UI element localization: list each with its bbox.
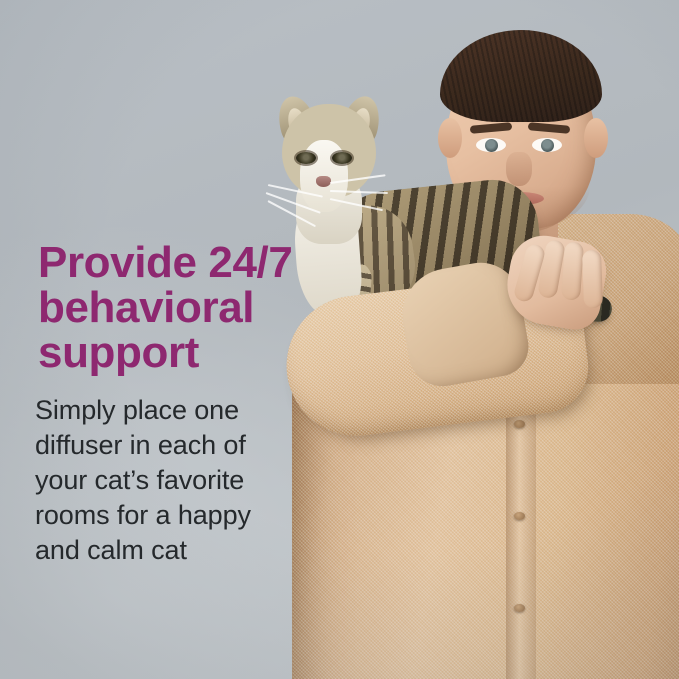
cat-nose — [316, 176, 331, 187]
cat-eye-left — [296, 152, 316, 164]
body-line-3: your cat’s favorite — [35, 463, 305, 498]
body-line-2: diffuser in each of — [35, 428, 305, 463]
headline-line-3: support — [38, 330, 338, 375]
headline: Provide 24/7 behavioral support — [38, 240, 338, 375]
body-copy: Simply place one diffuser in each of you… — [35, 393, 305, 568]
headline-line-1: Provide 24/7 — [38, 240, 338, 285]
man-finger — [582, 250, 603, 309]
body-line-5: and calm cat — [35, 533, 305, 568]
man-finger — [561, 241, 584, 300]
product-lifestyle-ad: Provide 24/7 behavioral support Simply p… — [0, 0, 679, 679]
body-line-1: Simply place one — [35, 393, 305, 428]
cat-eye-right — [332, 152, 352, 164]
headline-line-2: behavioral — [38, 285, 338, 330]
body-line-4: rooms for a happy — [35, 498, 305, 533]
